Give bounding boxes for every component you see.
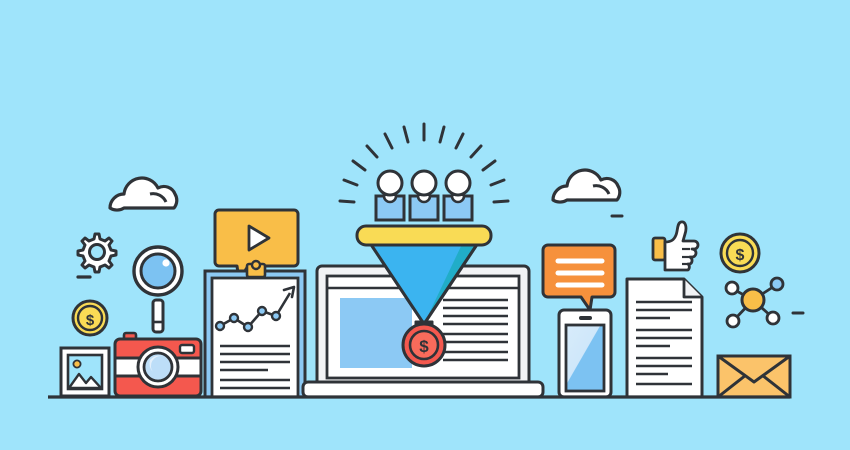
svg-text:$: $ [86,312,95,329]
smartphone [559,310,611,397]
dollar-coin-output: $ [403,324,445,366]
camera-icon [115,333,201,396]
photo-frame-icon [61,348,109,396]
person-3 [444,171,472,220]
magnifier-glint [162,259,169,266]
gold-coin-right: $ [721,234,759,272]
document-page [627,279,702,397]
clipboard-chart [205,261,305,397]
illustration-scene: $ [0,0,850,450]
person-1 [376,171,404,220]
conversion-rate-banner: CONVERSION RATE OPTMIZATION [0,0,850,450]
envelope-icon [718,356,790,397]
svg-text:$: $ [419,337,429,356]
gold-coin-left: $ [73,301,107,335]
svg-text:$: $ [736,247,745,264]
phone-speaker [579,316,592,320]
phone-screen [566,325,604,391]
person-2 [410,171,438,220]
laptop-screen-image [340,298,412,368]
funnel-audience [376,171,472,220]
